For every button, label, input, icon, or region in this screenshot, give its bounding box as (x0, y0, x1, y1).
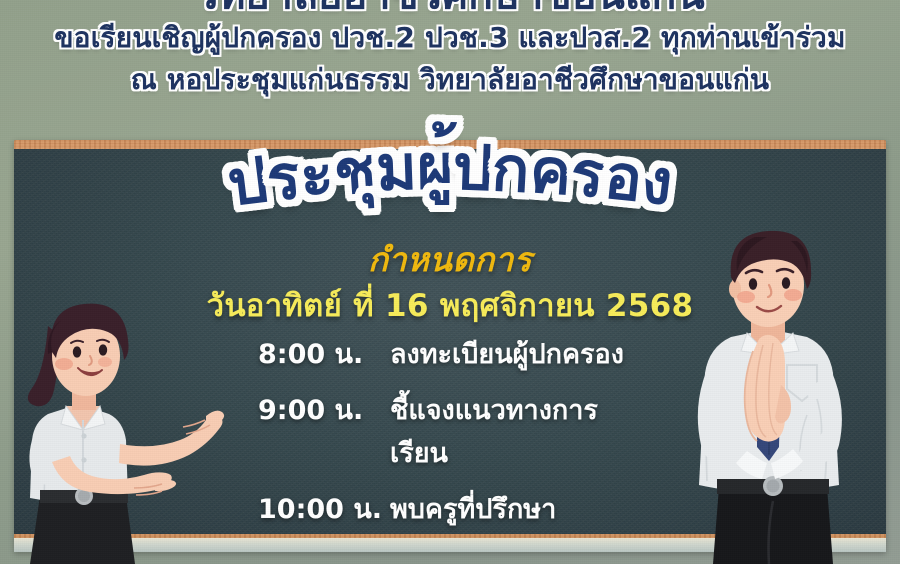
female-student-illustration (8, 264, 258, 564)
invitation-line: ขอเรียนเชิญผู้ปกครอง ปวช.2 ปวช.3 และปวส.… (0, 16, 900, 60)
headline-char: ะ (298, 142, 337, 207)
school-name-title: วิทยาลัยอาชีวศึกษาขอนแก่น (0, 0, 900, 12)
schedule-activity: ลงทะเบียนผู้ปกครอง (390, 332, 650, 375)
schedule-time: 9:00 น. (250, 388, 390, 431)
headline-char: ง (638, 149, 676, 214)
headline-char: ช (332, 140, 378, 205)
headline-char: ร (569, 142, 608, 207)
schedule-time: 8:00 น. (250, 332, 390, 375)
schedule-row: 8:00 น.ลงทะเบียนผู้ปกครอง (250, 332, 650, 375)
poster-root: วิทยาลัยอาชีวศึกษาขอนแก่น ขอเรียนเชิญผู้… (0, 0, 900, 564)
venue-line: ณ หอประชุมแก่นธรรม วิทยาลัยอาชีวศึกษาขอน… (0, 60, 900, 100)
schedule-activity: ชี้แจงแนวทางการเรียน (390, 388, 650, 474)
schedule-activity: พบครูที่ปรึกษา (390, 487, 650, 530)
headline-char: ป (224, 149, 271, 215)
header-block: วิทยาลัยอาชีวศึกษาขอนแก่น ขอเรียนเชิญผู้… (0, 0, 900, 148)
schedule-time: 10:00 น. (250, 487, 390, 530)
male-student-illustration (647, 219, 892, 564)
schedule-row: 10:00 น.พบครูที่ปรึกษา (250, 487, 650, 530)
headline-char: ค (528, 140, 574, 205)
main-headline: ประชุมผู้ปกครอง (14, 142, 886, 204)
schedule-row: 9:00 น.ชี้แจงแนวทางการเรียน (250, 388, 650, 474)
